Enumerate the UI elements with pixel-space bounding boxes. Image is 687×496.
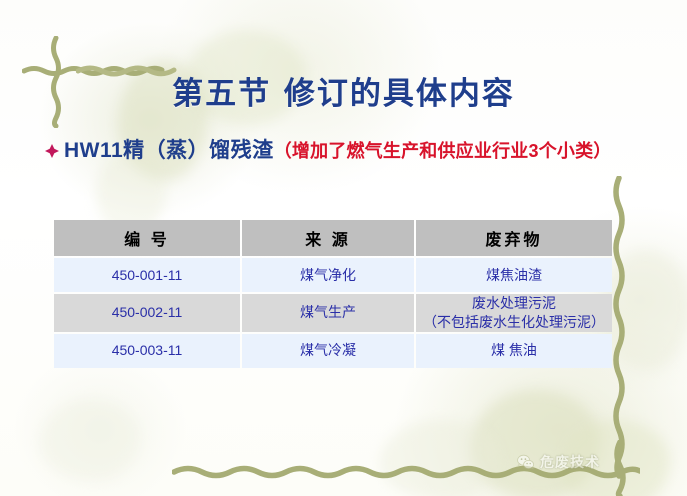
cell-code: 450-003-11: [54, 334, 240, 368]
cell-source: 煤气净化: [242, 258, 414, 292]
table-row: 450-001-11 煤气净化 煤焦油渣: [54, 258, 612, 292]
cell-waste-line2: （不包括废水生化处理污泥）: [416, 313, 612, 332]
column-header-waste: 废弃物: [416, 220, 612, 256]
column-header-code: 编 号: [54, 220, 240, 256]
waste-code-table: 编 号 来 源 废弃物 450-001-11 煤气净化 煤焦油渣 450-002…: [52, 218, 614, 370]
floral-watermark-blob: [560, 420, 670, 496]
floral-watermark-blob: [40, 400, 140, 480]
column-header-source: 来 源: [242, 220, 414, 256]
cell-code: 450-002-11: [54, 294, 240, 332]
cell-waste: 废水处理污泥 （不包括废水生化处理污泥）: [416, 294, 612, 332]
slide-canvas: 第五节 修订的具体内容 HW11精（蒸）馏残渣（增加了燃气生产和供应业行业3个小…: [0, 0, 687, 496]
brand-watermark: 危废技术: [516, 452, 600, 472]
bullet-paragraph: HW11精（蒸）馏残渣（增加了燃气生产和供应业行业3个小类）: [44, 138, 624, 165]
diamond-bullet-icon: [44, 143, 60, 159]
table-row: 450-003-11 煤气冷凝 煤 焦油: [54, 334, 612, 368]
table-header-row: 编 号 来 源 废弃物: [54, 220, 612, 256]
cell-waste: 煤 焦油: [416, 334, 612, 368]
cell-code: 450-001-11: [54, 258, 240, 292]
wechat-icon: [516, 453, 535, 472]
bullet-note-text: （增加了燃气生产和供应业行业3个小类）: [274, 141, 612, 161]
floral-watermark-blob: [380, 420, 500, 496]
cell-waste-line1: 煤焦油渣: [416, 266, 612, 285]
brand-watermark-text: 危废技术: [540, 452, 600, 472]
bullet-heading-text: HW11精（蒸）馏残渣: [64, 139, 274, 162]
cell-source: 煤气生产: [242, 294, 414, 332]
cell-source: 煤气冷凝: [242, 334, 414, 368]
cell-waste-line1: 煤 焦油: [416, 341, 612, 360]
cell-waste: 煤焦油渣: [416, 258, 612, 292]
page-title: 第五节 修订的具体内容: [0, 68, 687, 113]
bamboo-cross-accent-bottom-right: [610, 440, 630, 496]
cell-waste-line1: 废水处理污泥: [416, 294, 612, 313]
bamboo-horizontal-stroke-bottom: [172, 462, 640, 480]
table-row: 450-002-11 煤气生产 废水处理污泥 （不包括废水生化处理污泥）: [54, 294, 612, 332]
floral-watermark-blob: [470, 390, 600, 496]
